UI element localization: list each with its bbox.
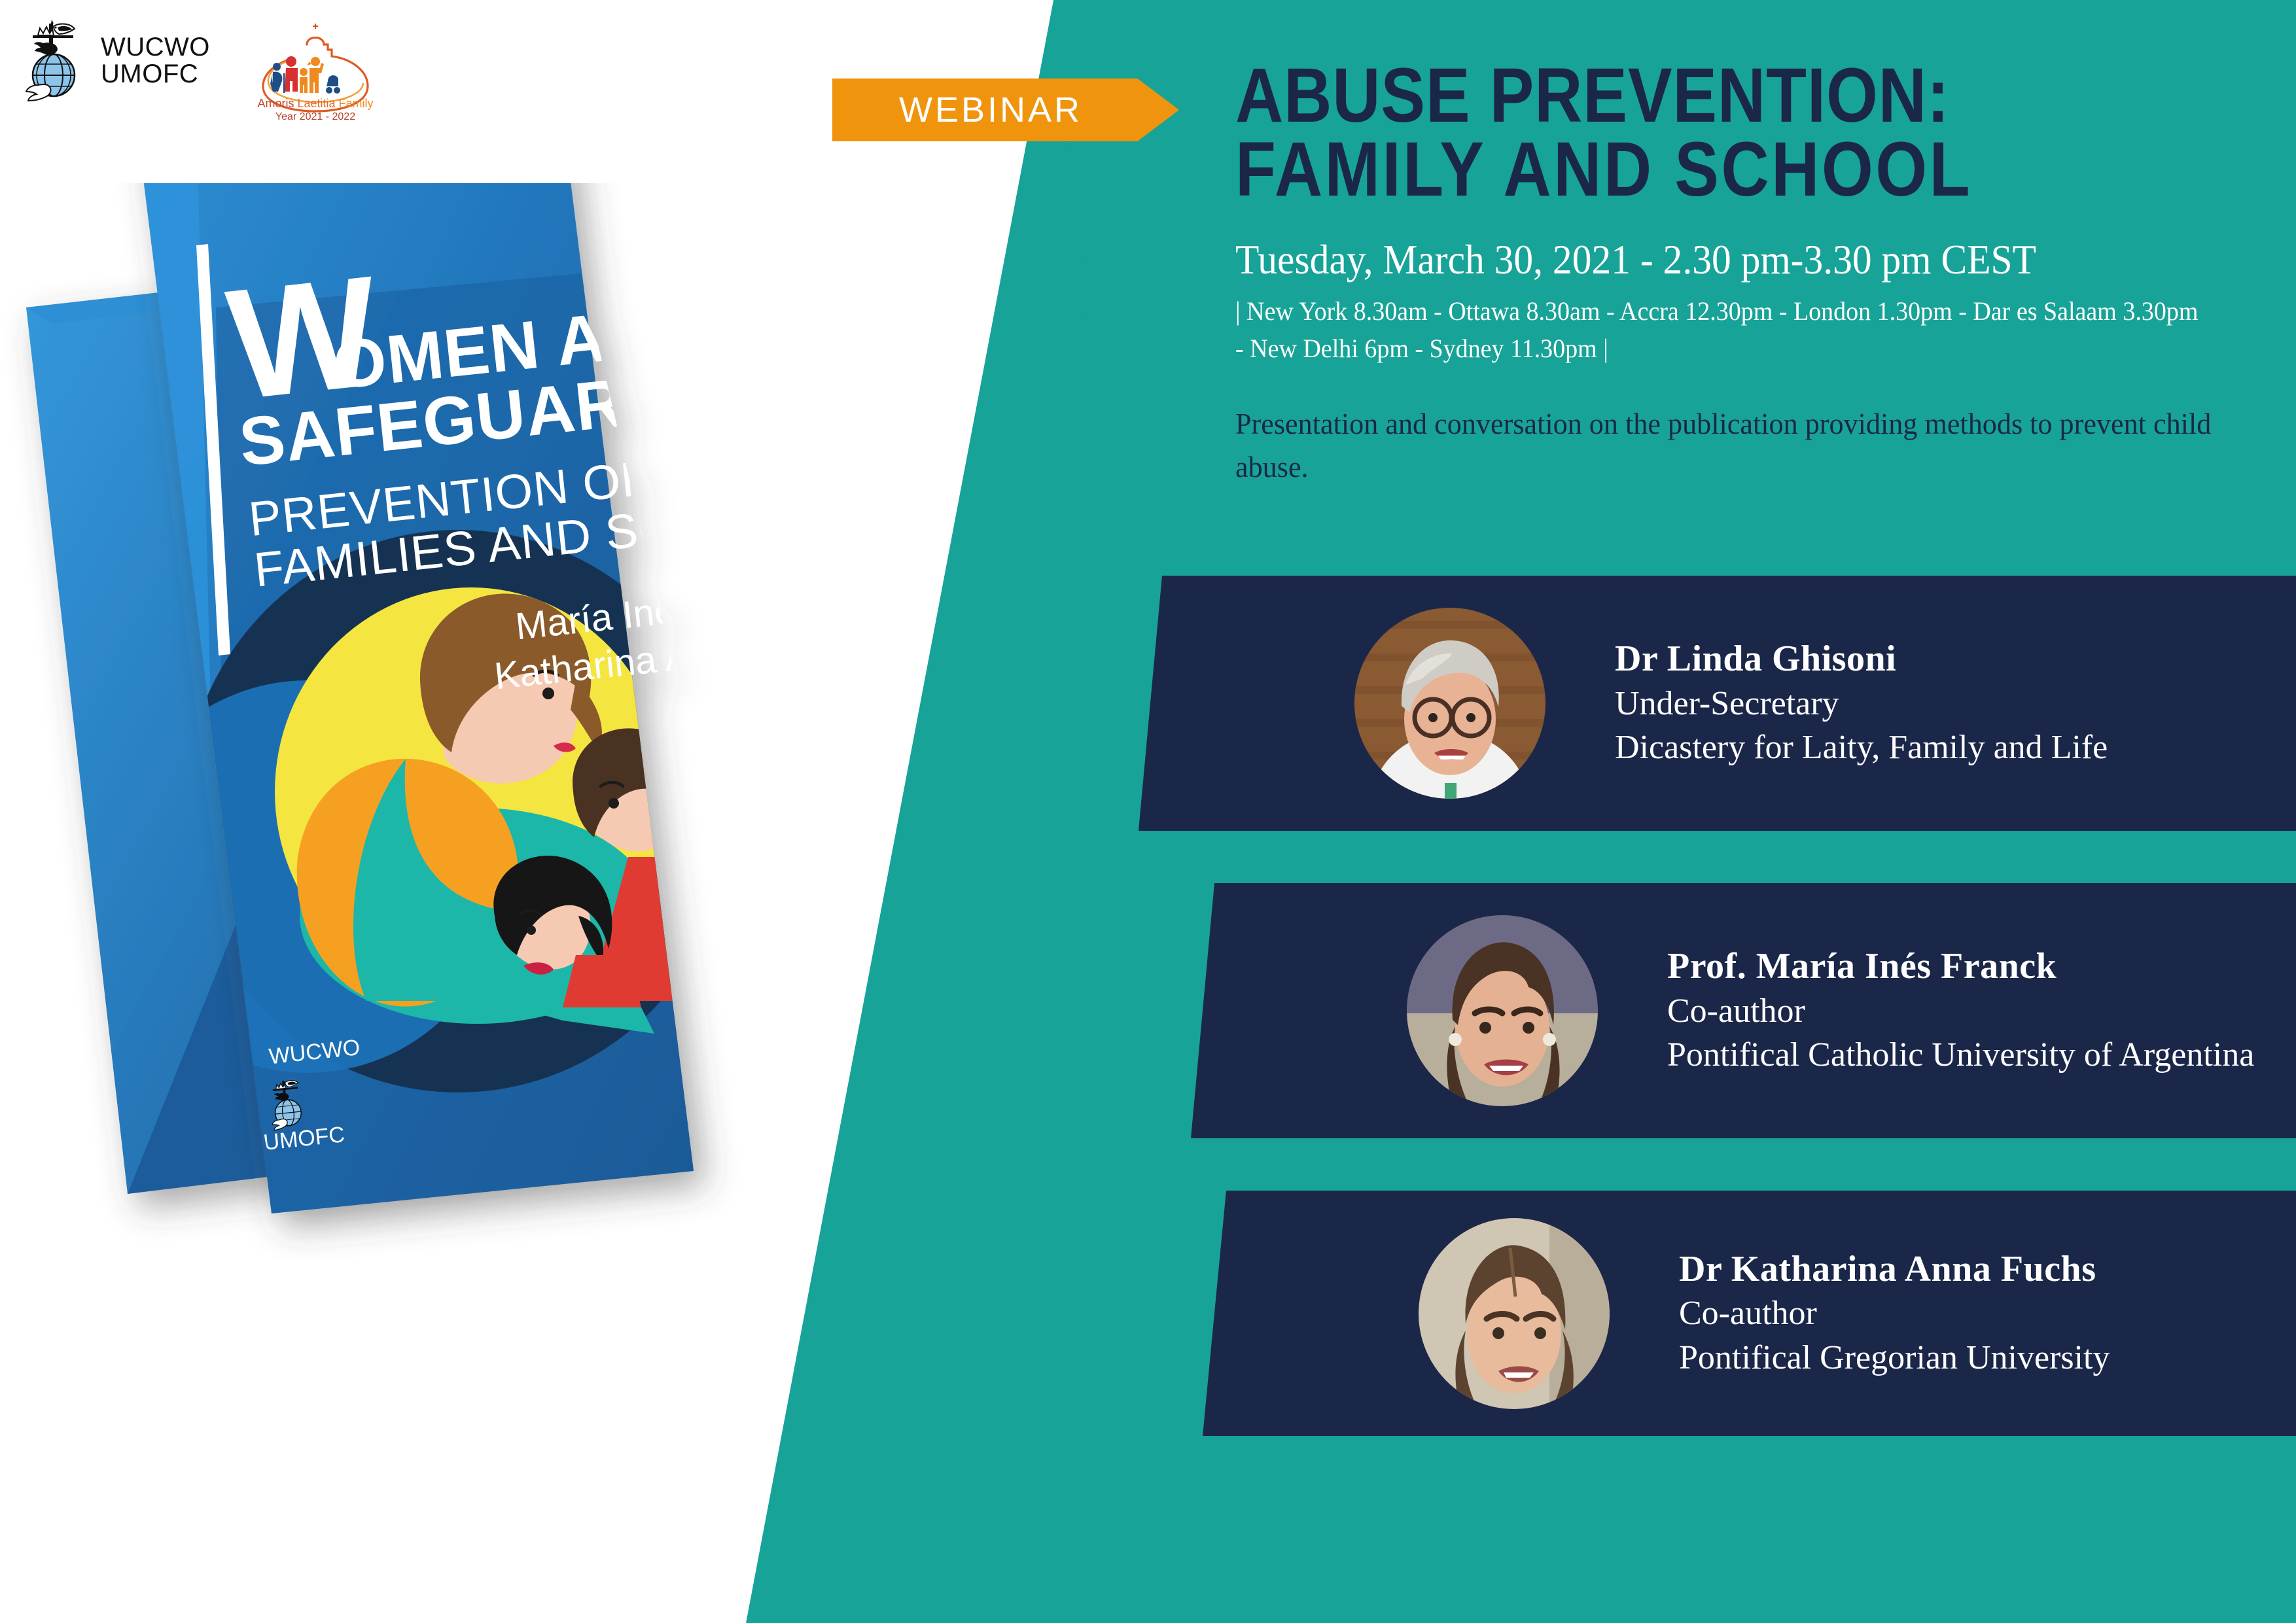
family-figures-icon [270,56,340,94]
speaker-role: Co-author [1667,989,2254,1034]
avatar [1419,1218,1610,1409]
speaker-org: Pontifical Gregorian University [1679,1336,2110,1380]
webinar-badge-label: WEBINAR [899,90,1112,130]
speaker-photo-0 [1354,608,1545,799]
speaker-info-1: Prof. María Inés Franck Co-author Pontif… [1667,944,2254,1077]
wucwo-wordmark: WUCWO UMOFC [101,34,210,88]
speaker-photo-1 [1407,915,1598,1106]
webinar-badge: WEBINAR [832,79,1179,141]
event-title-line1: ABUSE PREVENTION: [1235,59,2136,133]
speaker-name: Dr Katharina Anna Fuchs [1679,1247,2110,1291]
speaker-role: Under-Secretary [1615,682,2108,726]
wucwo-logo: WUCWO UMOFC [20,12,210,110]
speaker-name: Dr Linda Ghisoni [1615,637,2108,681]
avatar [1354,608,1545,799]
wucwo-globe-dove-icon [20,12,90,110]
event-timezones: | New York 8.30am - Ottawa 8.30am - Accr… [1235,293,2205,368]
speaker-card-1: Prof. María Inés Franck Co-author Pontif… [1191,883,2296,1138]
wucwo-abbr: WUCWO [101,34,210,61]
poster-canvas: WUCWO UMOFC [0,0,2296,1623]
speaker-role: Co-author [1679,1291,2110,1336]
speaker-card-0: Dr Linda Ghisoni Under-Secretary Dicaste… [1139,576,2296,831]
speaker-photo-2 [1419,1218,1610,1409]
amoris-line1-text: Amoris Laetitia Family [257,97,373,110]
page-title: ABUSE PREVENTION: FAMILY AND SCHOOL [1235,59,2136,207]
event-description: Presentation and conversation on the pub… [1235,402,2221,488]
event-details: ABUSE PREVENTION: FAMILY AND SCHOOL Tues… [1235,59,2282,488]
speaker-org: Pontifical Catholic University of Argent… [1667,1033,2254,1077]
speaker-card-2: Dr Katharina Anna Fuchs Co-author Pontif… [1203,1191,2296,1436]
speaker-org: Dicastery for Laity, Family and Life [1615,725,2108,770]
logo-bar: WUCWO UMOFC [20,12,384,123]
book-front-cover: W OMEN AS AGENTS OF SAFEGUARDING PREVENT… [111,183,1105,1230]
book-mockup: W OMEN AS AGENTS OF SAFEGUARDING PREVENT… [0,183,1112,1465]
speaker-name: Prof. María Inés Franck [1667,944,2254,988]
event-title-line2: FAMILY AND SCHOOL [1235,133,2136,207]
amoris-laetitia-logo: Amoris Laetitia Family Year 2021 - 2022 [247,18,384,123]
event-datetime: Tuesday, March 30, 2021 - 2.30 pm-3.30 p… [1235,237,2209,281]
speaker-info-0: Dr Linda Ghisoni Under-Secretary Dicaste… [1615,637,2108,770]
speaker-info-2: Dr Katharina Anna Fuchs Co-author Pontif… [1679,1247,2110,1380]
amoris-line2-text: Year 2021 - 2022 [275,111,355,122]
umofc-abbr: UMOFC [101,61,210,88]
avatar [1407,915,1598,1106]
